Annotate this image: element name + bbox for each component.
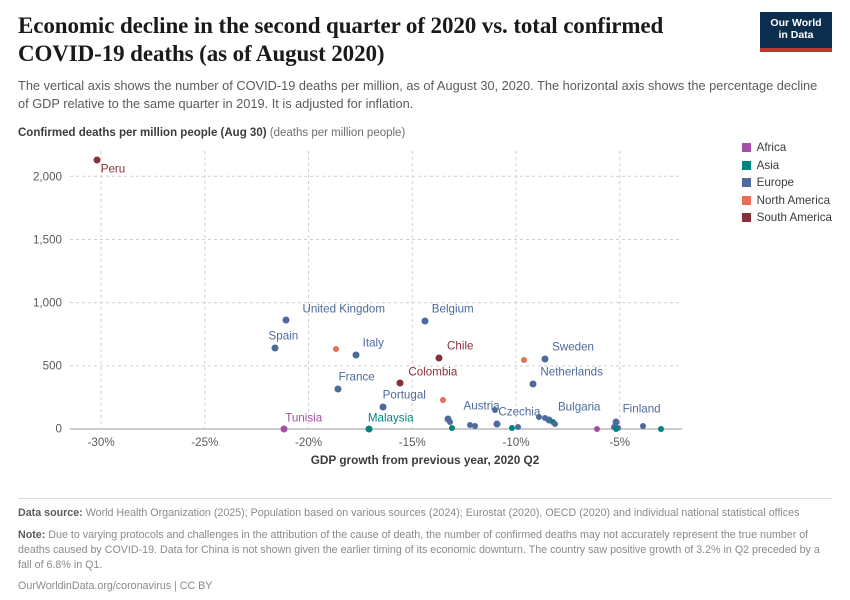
y-axis-title: Confirmed deaths per million people (Aug… <box>18 127 832 139</box>
data-source: Data source: World Health Organization (… <box>18 506 832 521</box>
point-label: Bulgaria <box>558 401 601 414</box>
legend-swatch <box>742 213 751 222</box>
data-point[interactable] <box>515 424 521 430</box>
owid-license-link[interactable]: OurWorldinData.org/coronavirus | CC BY <box>18 580 832 592</box>
point-label: Portugal <box>383 389 426 402</box>
y-tick-label: 0 <box>56 423 62 436</box>
y-axis-unit: (deaths per million people) <box>270 127 406 139</box>
data-point[interactable] <box>93 157 100 164</box>
data-point[interactable] <box>613 426 619 432</box>
owid-logo[interactable]: Our World in Data <box>760 12 832 52</box>
x-tick-label: -5% <box>609 436 630 449</box>
data-point[interactable] <box>272 344 279 351</box>
data-point[interactable] <box>421 317 428 324</box>
footer-divider <box>18 498 832 499</box>
x-tick-label: -30% <box>88 436 115 449</box>
data-point[interactable] <box>334 385 341 392</box>
data-point[interactable] <box>521 357 527 363</box>
legend-item[interactable]: Europe <box>742 176 832 189</box>
point-label: Belgium <box>432 302 474 315</box>
legend-label: North America <box>757 194 830 207</box>
legend-label: Africa <box>757 141 787 154</box>
x-axis-title: GDP growth from previous year, 2020 Q2 <box>18 453 850 467</box>
data-point[interactable] <box>440 397 446 403</box>
data-point[interactable] <box>594 426 600 432</box>
chart-footer: Data source: World Health Organization (… <box>18 498 832 592</box>
data-point[interactable] <box>449 425 455 431</box>
chart-note: Note: Due to varying protocols and chall… <box>18 528 832 573</box>
legend-swatch <box>742 178 751 187</box>
legend-label: Asia <box>757 159 780 172</box>
data-point[interactable] <box>509 425 515 431</box>
x-tick-label: -10% <box>502 436 529 449</box>
data-point[interactable] <box>365 425 372 432</box>
data-point[interactable] <box>492 407 498 413</box>
point-label: Chile <box>447 339 473 352</box>
legend-item[interactable]: North America <box>742 194 832 207</box>
data-point[interactable] <box>436 354 443 361</box>
chart-legend: AfricaAsiaEuropeNorth AmericaSouth Ameri… <box>742 141 832 229</box>
data-point[interactable] <box>640 423 646 429</box>
chart-note-label: Note: <box>18 529 45 541</box>
x-tick-label: -25% <box>191 436 218 449</box>
legend-swatch <box>742 196 751 205</box>
point-label: Netherlands <box>540 365 603 378</box>
legend-item[interactable]: South America <box>742 211 832 224</box>
point-label: Italy <box>363 336 384 349</box>
data-source-text: World Health Organization (2025); Popula… <box>86 507 800 519</box>
data-point[interactable] <box>333 346 339 352</box>
data-point[interactable] <box>280 425 287 432</box>
chart-subtitle: The vertical axis shows the number of CO… <box>18 77 818 113</box>
point-label: Sweden <box>552 340 594 353</box>
y-tick-label: 2,000 <box>33 170 62 183</box>
chart-page: Economic decline in the second quarter o… <box>0 0 850 600</box>
data-point[interactable] <box>494 421 501 428</box>
point-label: Malaysia <box>368 411 414 424</box>
point-label: Spain <box>269 329 299 342</box>
data-source-label: Data source: <box>18 507 83 519</box>
y-axis-title-text: Confirmed deaths per million people (Aug… <box>18 127 267 139</box>
grid-layer <box>18 141 832 451</box>
data-point[interactable] <box>282 317 289 324</box>
legend-swatch <box>742 161 751 170</box>
owid-logo-line2: in Data <box>778 30 813 42</box>
point-label: Tunisia <box>285 411 322 424</box>
point-label: United Kingdom <box>303 303 386 316</box>
data-point[interactable] <box>396 379 403 386</box>
page-title: Economic decline in the second quarter o… <box>18 12 708 68</box>
legend-label: Europe <box>757 176 794 189</box>
legend-item[interactable]: Asia <box>742 159 832 172</box>
y-tick-label: 1,000 <box>33 297 62 310</box>
point-label: Peru <box>101 163 126 176</box>
data-point[interactable] <box>658 426 664 432</box>
data-point[interactable] <box>472 423 478 429</box>
point-label: Colombia <box>408 365 457 378</box>
data-point[interactable] <box>529 380 536 387</box>
data-point[interactable] <box>536 414 542 420</box>
data-point[interactable] <box>380 404 387 411</box>
y-tick-label: 1,500 <box>33 233 62 246</box>
chart-note-text: Due to varying protocols and challenges … <box>18 529 820 571</box>
legend-swatch <box>742 143 751 152</box>
data-point[interactable] <box>542 355 549 362</box>
point-label: Czechia <box>498 406 540 419</box>
legend-item[interactable]: Africa <box>742 141 832 154</box>
x-tick-label: -15% <box>399 436 426 449</box>
x-tick-label: -20% <box>295 436 322 449</box>
data-point[interactable] <box>353 351 360 358</box>
scatter-plot: PeruSpainUnited KingdomTunisiaFranceItal… <box>18 141 832 451</box>
legend-label: South America <box>757 211 832 224</box>
point-label: Finland <box>623 403 661 416</box>
chart-header: Economic decline in the second quarter o… <box>18 0 832 113</box>
point-label: France <box>339 370 375 383</box>
y-tick-label: 500 <box>43 360 62 373</box>
data-point[interactable] <box>552 421 558 427</box>
